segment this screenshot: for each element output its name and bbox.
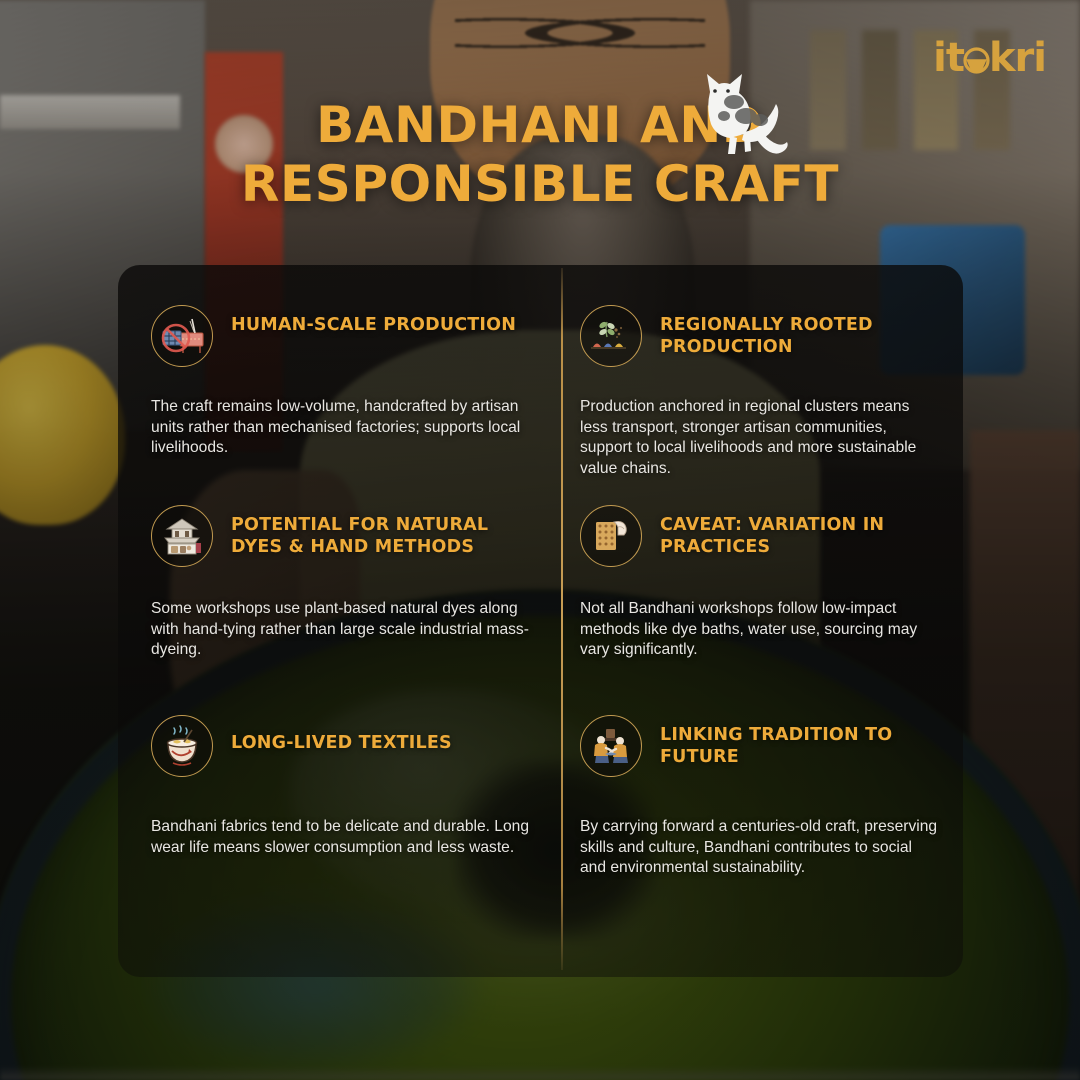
- card-body: Some workshops use plant-based natural d…: [151, 599, 543, 661]
- feature-grid: HUMAN-SCALE PRODUCTION The craft remains…: [118, 265, 963, 977]
- card-header: CAVEAT: VARIATION IN PRACTICES: [580, 505, 941, 567]
- card-title: REGIONALLY ROOTED PRODUCTION: [660, 305, 941, 359]
- feature-card-long-lived-textiles: LONG-LIVED TEXTILES Bandhani fabrics ten…: [118, 675, 561, 977]
- feature-card-regionally-rooted-production: REGIONALLY ROOTED PRODUCTION Production …: [561, 265, 963, 465]
- steaming-dye-pot-icon: [151, 715, 213, 777]
- card-header: HUMAN-SCALE PRODUCTION: [151, 305, 543, 367]
- card-header: LINKING TRADITION TO FUTURE: [580, 715, 941, 777]
- feature-card-linking-tradition-to-future: LINKING TRADITION TO FUTURE By carrying …: [561, 675, 963, 977]
- cat-illustration: [690, 58, 798, 166]
- card-header: POTENTIAL FOR NATURAL DYES & HAND METHOD…: [151, 505, 543, 567]
- card-body: Bandhani fabrics tend to be delicate and…: [151, 817, 543, 858]
- card-header: LONG-LIVED TEXTILES: [151, 715, 543, 777]
- page-title-line-1: BANDHANI AND: [0, 96, 1080, 155]
- card-body: Not all Bandhani workshops follow low-im…: [580, 599, 941, 661]
- no-machine-production-icon: [151, 305, 213, 367]
- card-title: HUMAN-SCALE PRODUCTION: [231, 305, 516, 336]
- logo-text-kri: kri: [989, 35, 1046, 81]
- logo-text-it: it: [933, 35, 964, 81]
- card-body: By carrying forward a centuries-old craf…: [580, 817, 941, 879]
- basket-icon: [963, 47, 990, 74]
- craft-workshop-building-icon: [151, 505, 213, 567]
- card-title: LINKING TRADITION TO FUTURE: [660, 715, 941, 769]
- two-artisans-working-icon: [580, 715, 642, 777]
- brand-logo[interactable]: itkri: [933, 38, 1046, 78]
- hand-holding-patterned-fabric-icon: [580, 505, 642, 567]
- card-body: The craft remains low-volume, handcrafte…: [151, 397, 543, 459]
- page-title-line-2: RESPONSIBLE CRAFT: [0, 155, 1080, 214]
- title-block: BANDHANI AND RESPONSIBLE CRAFT: [0, 96, 1080, 214]
- feature-card-human-scale-production: HUMAN-SCALE PRODUCTION The craft remains…: [118, 265, 561, 465]
- card-title: LONG-LIVED TEXTILES: [231, 715, 452, 754]
- card-title: CAVEAT: VARIATION IN PRACTICES: [660, 505, 941, 559]
- feature-card-caveat-variation-in-practices: CAVEAT: VARIATION IN PRACTICES Not all B…: [561, 465, 963, 675]
- feature-card-natural-dyes-hand-methods: POTENTIAL FOR NATURAL DYES & HAND METHOD…: [118, 465, 561, 675]
- card-title: POTENTIAL FOR NATURAL DYES & HAND METHOD…: [231, 505, 543, 559]
- card-header: REGIONALLY ROOTED PRODUCTION: [580, 305, 941, 367]
- herbs-and-spice-mounds-icon: [580, 305, 642, 367]
